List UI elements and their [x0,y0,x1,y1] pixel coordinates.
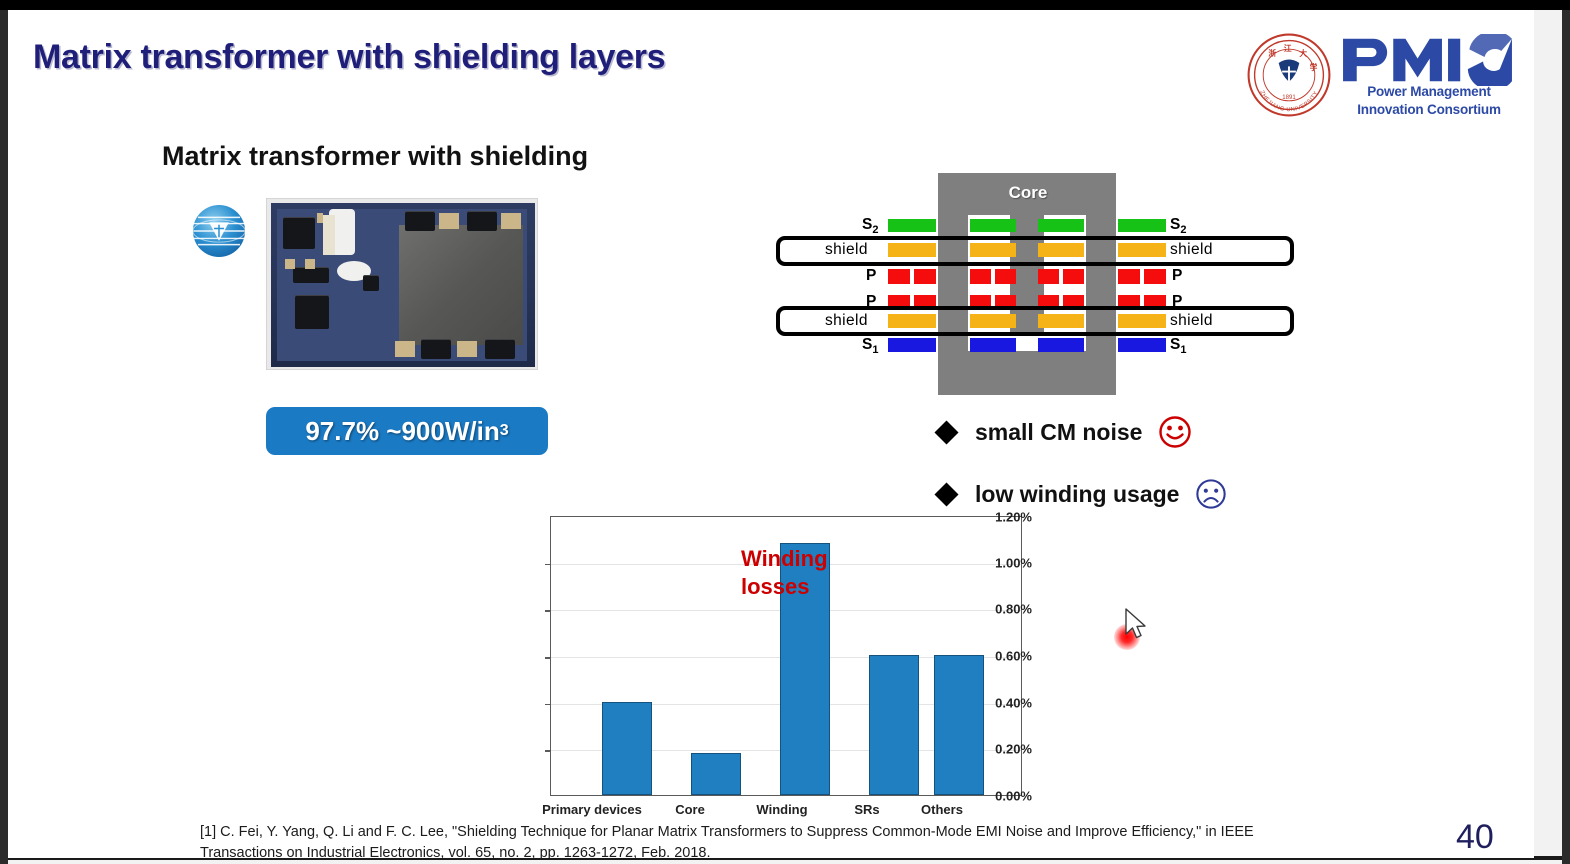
annotation-line1: Winding [741,545,828,573]
winding-p-top-or-a [1118,269,1140,284]
sad-face-icon [1195,478,1227,510]
svg-text:浙: 浙 [1268,48,1276,58]
happy-face-icon [1158,415,1192,449]
bar-srs [869,655,919,795]
slide-canvas: Matrix transformer with shielding layers… [8,10,1534,858]
label-s1-left: S1 [862,336,878,356]
svg-text:1891: 1891 [1282,95,1296,101]
shield-bottom-inner-right [1038,314,1084,328]
shield-bottom-outer-left [888,314,936,328]
diamond-bullet-icon [934,482,958,506]
winding-s1-outer-left [888,338,936,352]
bar-others [934,655,984,795]
label-shield-bottom-right: shield [1170,312,1213,330]
prototype-pcb-photo [266,198,538,370]
viewer-right-gutter [1534,10,1562,864]
shield-top-outer-left [888,243,936,257]
core-label: Core [938,183,1118,203]
xtick-label-2: Winding [737,802,827,817]
ytick-label-3: 0.60% [970,649,1032,664]
label-s2-right: S2 [1170,216,1186,236]
viewer-right-edge [1562,10,1570,864]
ytick-label-4: 0.80% [970,602,1032,617]
bullet-small-cm-noise: small CM noise [938,415,1192,449]
ytick-mark [545,564,551,566]
shield-top-inner-left [970,243,1016,257]
winding-p-top-ol-b [914,269,936,284]
chart-plot-area: Winding losses [550,516,1022,796]
logo-block: 浙江大学 1891 ZHEJIANG UNIVERSITY Power Mana… [1240,26,1520,126]
winding-p-top-il-a [970,269,991,284]
winding-p-top-il-b [995,269,1016,284]
pcb-board [271,203,535,367]
xtick-label-4: Others [907,802,977,817]
zhejiang-university-seal-icon: 浙江大学 1891 ZHEJIANG UNIVERSITY [1246,32,1332,118]
winding-p-top-ol-a [888,269,910,284]
pcb-magnetic-core [399,225,523,345]
diamond-bullet-icon [934,420,958,444]
bar-core [691,753,741,795]
winding-p-top-ir-b [1063,269,1084,284]
winding-p-top-ir-a [1038,269,1059,284]
xtick-label-1: Core [660,802,720,817]
winding-s1-inner-left [970,338,1016,352]
label-s2-left: S2 [862,216,878,236]
core-bottom-plate [938,351,1116,395]
winding-s1-inner-right [1038,338,1084,352]
efficiency-value: 97.7% ~900W/in [305,416,499,447]
svg-text:大: 大 [1299,48,1307,58]
efficiency-exponent: 3 [500,422,509,440]
bar-primary-devices [602,702,652,795]
xtick-label-3: SRs [837,802,897,817]
ytick-label-1: 0.20% [970,742,1032,757]
winding-s1-outer-right [1118,338,1166,352]
slide-title: Matrix transformer with shielding layers [33,38,665,77]
viewer-top-bar [0,0,1570,10]
winding-s2-outer-left [888,219,936,232]
label-s1-right: S1 [1170,336,1186,356]
winding-losses-annotation: Winding losses [741,545,828,600]
loss-breakdown-bar-chart: Winding losses 0.00% 0.20% 0.40% 0.60% 0… [482,510,1032,820]
bullet-low-winding-usage: low winding usage [938,478,1227,510]
label-shield-top-left: shield [825,241,868,259]
label-p-top-left: P [866,267,876,285]
shield-bottom-inner-left [970,314,1016,328]
pmic-wordmark-icon [1340,34,1515,86]
annotation-line2: losses [741,573,828,601]
ytick-mark [545,750,551,752]
efficiency-badge: 97.7% ~900W/in3 [266,407,548,455]
pmic-subtitle-line1: Power Management [1340,84,1518,99]
shield-top-inner-right [1038,243,1084,257]
svg-text:学: 学 [1310,62,1318,72]
ytick-label-5: 1.00% [970,555,1032,570]
page-number: 40 [1456,818,1494,857]
shield-bottom-outer-right [1118,314,1166,328]
ytick-label-6: 1.20% [970,510,1032,525]
svg-text:江: 江 [1284,43,1292,53]
ytick-label-0: 0.00% [970,789,1032,804]
cpes-globe-logo-icon [188,200,250,262]
ytick-mark [545,657,551,659]
bullet-label-1: low winding usage [975,481,1179,508]
label-shield-bottom-left: shield [825,312,868,330]
transformer-cross-section-diagram: Core S2 S2 shield shield P [770,173,1300,398]
winding-p-top-or-b [1144,269,1166,284]
pmic-subtitle-line2: Innovation Consortium [1340,102,1518,117]
bullet-label-0: small CM noise [975,419,1142,446]
shield-top-outer-right [1118,243,1166,257]
winding-s2-inner-right [1038,219,1084,232]
reference-citation: [1] C. Fei, Y. Yang, Q. Li and F. C. Lee… [200,822,1260,864]
section-title: Matrix transformer with shielding [162,141,588,172]
label-shield-top-right: shield [1170,241,1213,259]
winding-s2-outer-right [1118,219,1166,232]
xtick-label-0: Primary devices [522,802,662,817]
ytick-mark [545,610,551,612]
viewer-left-edge [0,10,8,864]
label-p-top-right: P [1172,267,1182,285]
ytick-mark [545,704,551,706]
winding-s2-inner-left [970,219,1016,232]
mouse-cursor-icon [1124,608,1150,642]
presentation-viewer: Matrix transformer with shielding layers… [0,0,1570,864]
ytick-label-2: 0.40% [970,695,1032,710]
